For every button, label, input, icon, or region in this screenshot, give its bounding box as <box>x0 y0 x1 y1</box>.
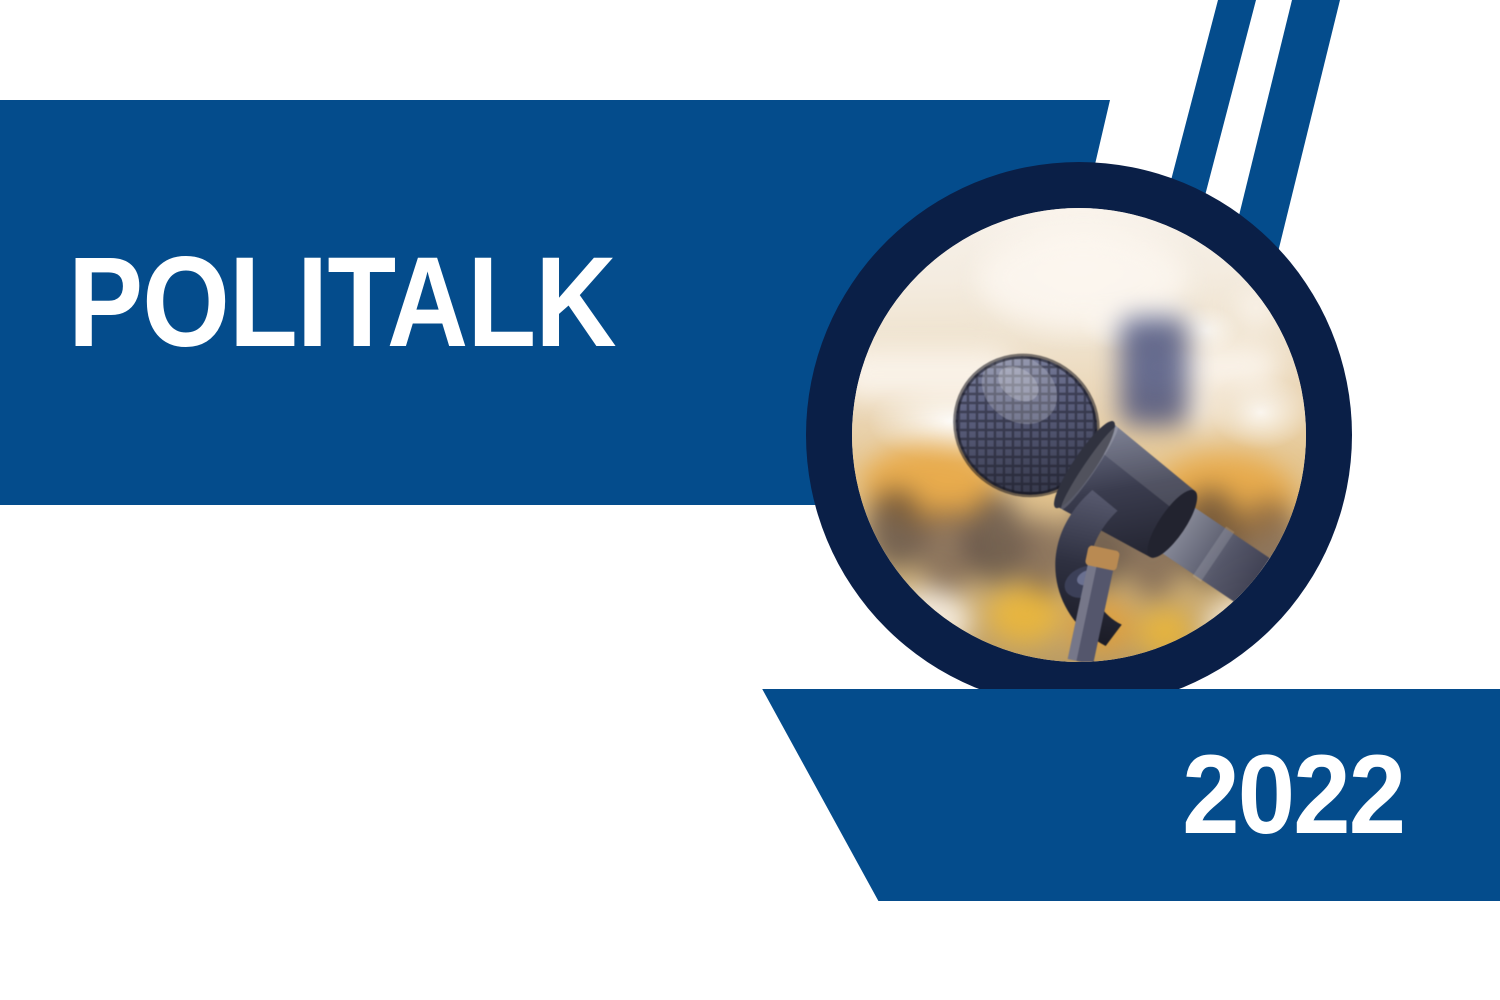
poster-canvas: POLITALK <box>0 0 1500 1000</box>
page-title: POLITALK <box>68 100 616 505</box>
medallion-ring <box>806 162 1352 708</box>
microphone-icon <box>852 208 1306 662</box>
year-label: 2022 <box>1182 689 1404 901</box>
bottom-banner: 2022 <box>760 689 1500 901</box>
medallion-photo <box>852 208 1306 662</box>
